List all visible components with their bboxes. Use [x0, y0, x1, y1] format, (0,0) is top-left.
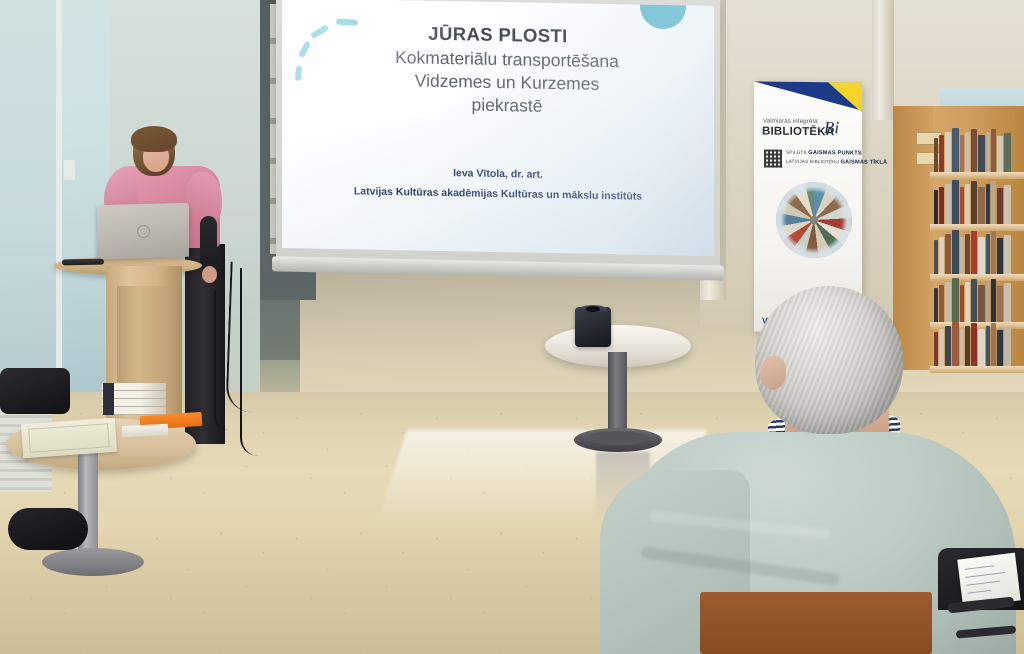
- certificate-papers: [21, 418, 117, 458]
- window-mullion: [56, 0, 62, 400]
- qr-code-icon: [764, 150, 782, 168]
- book-spine: [986, 132, 990, 172]
- note-line: [965, 572, 1005, 578]
- book-spine: [939, 237, 944, 274]
- ceiling-column: [872, 0, 894, 120]
- slide-subtitle: Kokmateriālu transportēšana Vidzemes un …: [316, 45, 698, 121]
- shelf-board: [930, 172, 1024, 179]
- banner-tagline-2-light: LATVIJAS BIBLIOTĒKU: [786, 159, 839, 165]
- attendee-ear: [760, 356, 786, 390]
- book-spine: [971, 181, 977, 224]
- book-spine: [945, 282, 951, 322]
- shelf-board: [930, 366, 1024, 373]
- book-spine: [952, 128, 959, 172]
- book-spine: [978, 329, 985, 366]
- book-spine: [986, 234, 990, 274]
- book-spine: [965, 184, 970, 224]
- book-spine: [991, 129, 996, 172]
- banner-tagline-row-2: LATVIJAS BIBLIOTĒKU GAISMAS TĪKLĀ: [786, 159, 887, 166]
- book-spine: [965, 326, 970, 366]
- book-spine: [934, 332, 938, 366]
- chair-back[interactable]: [700, 592, 932, 654]
- presenter-hair-fringe: [131, 126, 177, 152]
- book-spine: [1004, 133, 1011, 172]
- shelf-book-row: [934, 322, 1024, 366]
- book-spine: [103, 407, 114, 415]
- book-spine: [939, 285, 944, 322]
- laptop-logo-icon: [137, 225, 150, 238]
- globe-sky-overlay: [776, 182, 852, 259]
- book-spine: [952, 230, 959, 274]
- certificate-border: [28, 423, 109, 453]
- book-spine: [978, 135, 985, 172]
- book-spine: [960, 237, 964, 274]
- floor-bag: [8, 508, 88, 550]
- book-spine: [971, 323, 977, 366]
- banner-signature-mark: Bi: [824, 118, 839, 138]
- cable: [214, 290, 228, 430]
- book-spine: [103, 399, 114, 407]
- speaker-device-port: [586, 306, 600, 312]
- book-spine: [1004, 235, 1011, 274]
- book-spine: [997, 136, 1003, 172]
- book-spine: [934, 138, 938, 172]
- book-spine: [978, 285, 985, 322]
- book-spine: [939, 135, 944, 172]
- book-spine: [997, 238, 1003, 274]
- shelf-book-row: [934, 278, 1024, 322]
- book-spine: [971, 279, 977, 322]
- book-spine: [991, 231, 996, 274]
- book-spine: [1004, 283, 1011, 322]
- projection-screen: JŪRAS PLOSTI Kokmateriālu transportēšana…: [276, 0, 720, 264]
- book-spine: [939, 329, 944, 366]
- book-spine: [986, 282, 990, 322]
- banner-tagline-1-bold: GAISMAS PUNKTS: [808, 150, 861, 157]
- book-spine: [945, 184, 951, 224]
- presenter-hand-right: [202, 266, 217, 283]
- book-spine: [965, 282, 970, 322]
- book-spine: [986, 326, 990, 366]
- book-spine: [997, 286, 1003, 322]
- book-spine: [934, 190, 938, 224]
- banner-subtitle: Valmieras integrētā: [763, 118, 818, 126]
- book-spine: [945, 326, 951, 366]
- black-bag: [0, 368, 70, 414]
- book-spine: [991, 181, 996, 224]
- laptop[interactable]: [97, 203, 189, 259]
- slide-author: Ieva Vītola, dr. art.: [282, 164, 714, 184]
- arc-segment-icon: [295, 66, 303, 82]
- book-spine: [965, 132, 970, 172]
- banner-yellow-triangle: [828, 82, 862, 112]
- banner-tagline-row-1: SPILGTS GAISMAS PUNKTS: [786, 150, 862, 157]
- side-table-base: [42, 548, 144, 576]
- center-table-stem: [608, 352, 627, 440]
- book-spine: [971, 231, 977, 274]
- bookshelf-side-panel: [893, 106, 933, 370]
- banner-tagline-1-light: SPILGTS: [786, 150, 807, 155]
- note-line: [964, 565, 994, 570]
- book-stack: [102, 383, 168, 416]
- book-spine: [978, 187, 985, 224]
- center-table-base-inner: [586, 431, 650, 445]
- book-spine: [978, 237, 985, 274]
- book-spine: [945, 132, 951, 172]
- book-spine: [103, 391, 114, 399]
- book-spine: [991, 279, 996, 322]
- book-spine: [1004, 185, 1011, 224]
- shelf-book-row: [934, 180, 1024, 224]
- banner-globe-image: [776, 182, 852, 259]
- book-spine: [965, 234, 970, 274]
- book-spine: [1004, 327, 1011, 366]
- book-spine: [945, 234, 951, 274]
- shelf-book-row: [934, 128, 1024, 172]
- presenter-arm-right: [200, 216, 217, 272]
- presenter-remote[interactable]: [62, 259, 104, 266]
- presentation-slide: JŪRAS PLOSTI Kokmateriālu transportēšana…: [282, 0, 714, 256]
- book-spine: [960, 135, 964, 172]
- book-spine: [960, 285, 964, 322]
- shelf-book-row: [934, 230, 1024, 274]
- book-spine: [952, 322, 959, 366]
- note-line: [966, 581, 1000, 586]
- book-spine: [997, 188, 1003, 224]
- book-spine: [939, 187, 944, 224]
- arc-segment-icon: [298, 41, 311, 59]
- book-spine: [960, 187, 964, 224]
- book-spine: [991, 323, 996, 366]
- book-spine: [971, 129, 977, 172]
- presentation-photo-scene: JŪRAS PLOSTI Kokmateriālu transportēšana…: [0, 0, 1024, 654]
- note-line: [967, 590, 991, 594]
- book-spine: [103, 383, 114, 391]
- book-spine: [960, 329, 964, 366]
- cable: [240, 268, 258, 456]
- book-spine: [952, 278, 959, 322]
- book-spine: [934, 288, 938, 322]
- book-spine: [986, 184, 990, 224]
- window-blind: [0, 0, 58, 400]
- book-spine: [934, 240, 938, 274]
- teal-circle-decoration: [640, 0, 686, 29]
- window-latch[interactable]: [64, 160, 75, 180]
- banner-tagline-2-bold: GAISMAS TĪKLĀ: [840, 159, 887, 165]
- slide-affiliation: Latvijas Kultūras akadēmijas Kultūras un…: [282, 184, 714, 204]
- book-spine: [997, 330, 1003, 366]
- book-spine: [952, 180, 959, 224]
